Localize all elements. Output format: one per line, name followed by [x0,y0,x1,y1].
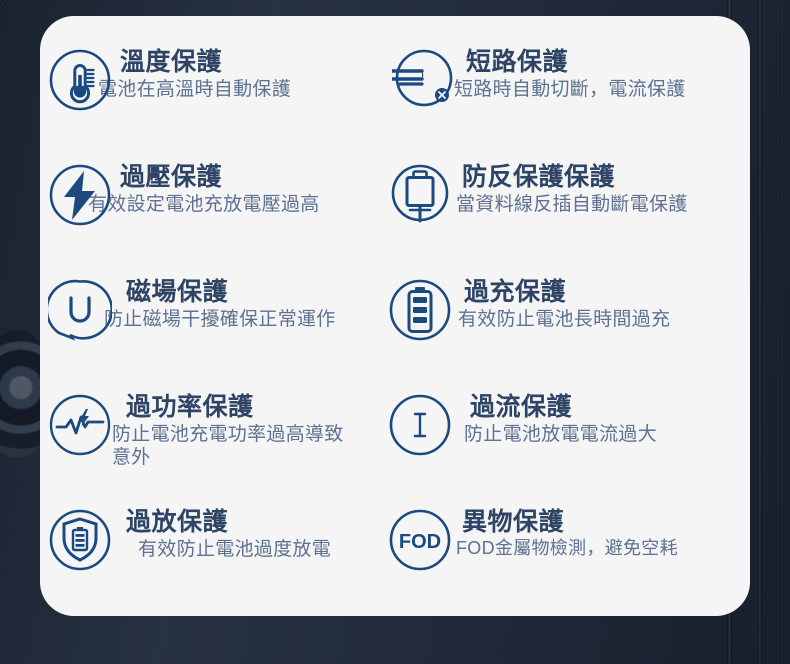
short-circuit-plug-icon [392,48,456,112]
feature-text-block: 溫度保護 電池在高溫時自動保護 [120,40,291,101]
feature-text-block: 短路保護 短路時自動切斷，電流保護 [466,40,686,101]
feature-description: 當資料線反插自動斷電保護 [456,193,688,216]
feature-title: 過流保護 [470,393,657,421]
feature-description: 短路時自動切斷，電流保護 [454,78,686,101]
battery-full-icon [388,278,452,342]
feature-description: 電池在高溫時自動保護 [98,78,291,101]
feature-description: 有效防止電池長時間過充 [458,308,670,331]
feature-text-block: 防反保護保護 當資料線反插自動斷電保護 [462,155,688,216]
feature-item-reverse-polarity-protection[interactable]: 防反保護保護 當資料線反插自動斷電保護 [388,149,738,264]
feature-description: 防止電池放電電流過大 [464,423,657,446]
reverse-plug-icon [388,163,452,227]
backdrop-stripe [781,0,784,664]
feature-title: 過壓保護 [120,163,320,191]
feature-text-block: 過充保護 有效防止電池長時間過充 [464,270,670,331]
feature-title: 過充保護 [464,278,670,306]
feature-item-over-discharge-protection[interactable]: 過放保護 有效防止電池過度放電 [48,494,388,609]
feature-item-overcharge-protection[interactable]: 過充保護 有效防止電池長時間過充 [388,264,738,379]
feature-description: 有效設定電池充放電壓過高 [88,193,320,216]
feature-item-magnetic-field-protection[interactable]: 磁場保護 防止磁場干擾確保正常運作 [48,264,388,379]
feature-title: 過放保護 [126,508,331,536]
feature-text-block: 異物保護 FOD金屬物檢測，避免空耗 [462,500,678,560]
feature-item-short-circuit-protection[interactable]: 短路保護 短路時自動切斷，電流保護 [388,34,738,149]
svg-text:FOD: FOD [399,531,441,553]
protection-features-grid: 溫度保護 電池在高溫時自動保護 短路保護 短路時自動切斷，電流保護 [48,34,778,609]
feature-text-block: 過放保護 有效防止電池過度放電 [126,500,331,561]
feature-item-foreign-object-protection[interactable]: FOD 異物保護 FOD金屬物檢測，避免空耗 [388,494,738,609]
feature-title: 磁場保護 [126,278,336,306]
feature-text-block: 磁場保護 防止磁場干擾確保正常運作 [126,270,336,331]
feature-title: 溫度保護 [120,48,291,76]
current-i-icon [388,393,452,457]
feature-item-over-power-protection[interactable]: 過功率保護 防止電池充電功率過高導致意外 [48,379,388,494]
feature-item-over-current-protection[interactable]: 過流保護 防止電池放電電流過大 [388,379,738,494]
feature-title: 短路保護 [466,48,686,76]
feature-text-block: 過流保護 防止電池放電電流過大 [470,385,657,446]
feature-title: 異物保護 [462,508,678,536]
feature-text-block: 過功率保護 防止電池充電功率過高導致意外 [126,385,362,469]
feature-title: 防反保護保護 [462,163,688,191]
shield-battery-icon [48,508,112,572]
feature-description: 防止磁場干擾確保正常運作 [104,308,336,331]
lightning-bolt-icon [48,163,112,227]
fod-text-icon: FOD [388,508,452,572]
thermometer-icon [48,48,112,112]
feature-item-over-voltage-protection[interactable]: 過壓保護 有效設定電池充放電壓過高 [48,149,388,264]
feature-description: 防止電池充電功率過高導致意外 [112,423,362,469]
feature-description: FOD金屬物檢測，避免空耗 [456,538,678,560]
waveform-bolt-icon [48,393,112,457]
feature-item-temperature-protection[interactable]: 溫度保護 電池在高溫時自動保護 [48,34,388,149]
feature-title: 過功率保護 [126,393,362,421]
feature-text-block: 過壓保護 有效設定電池充放電壓過高 [120,155,320,216]
feature-description: 有效防止電池過度放電 [138,538,331,561]
magnet-u-icon [48,278,112,342]
